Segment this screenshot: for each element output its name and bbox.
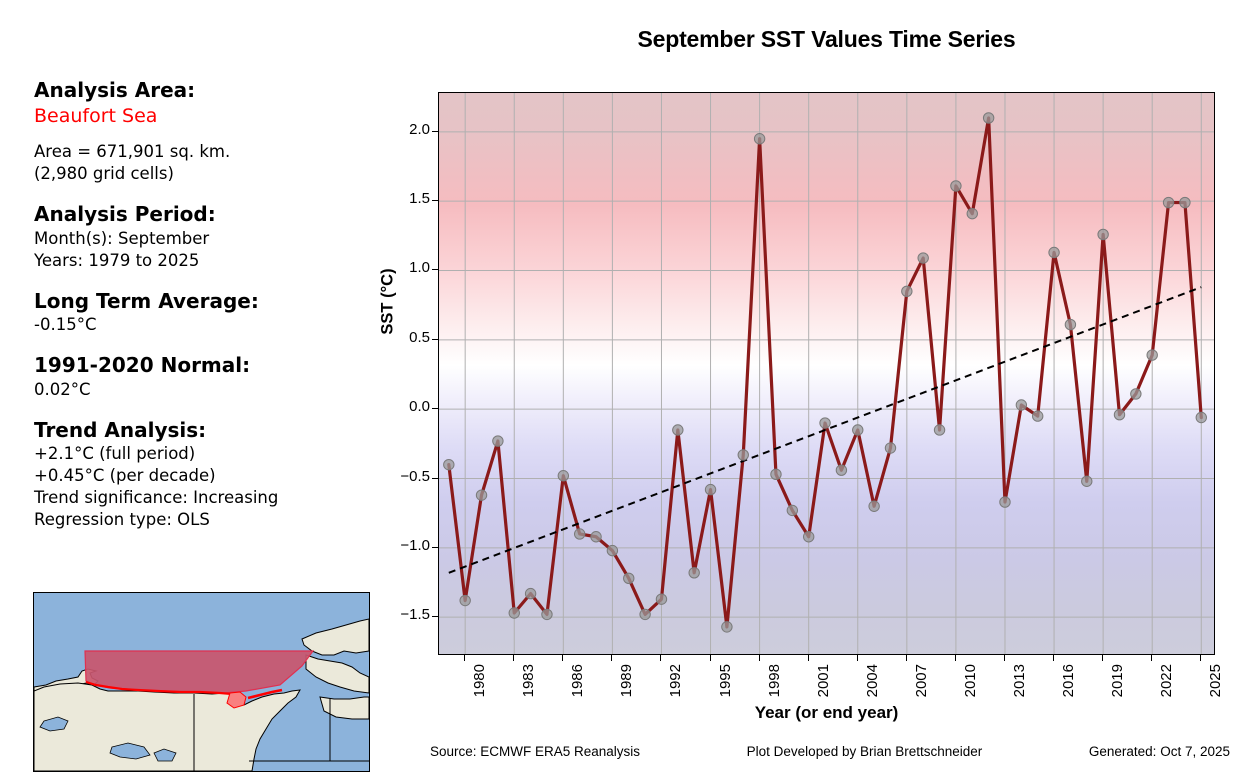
- data-point-marker: [1049, 247, 1059, 257]
- x-axis-tick-label: 1986: [569, 664, 586, 697]
- data-point-marker: [558, 471, 568, 481]
- x-axis-tick-mark: [710, 655, 711, 661]
- footer-bar: Source: ECMWF ERA5 Reanalysis Plot Devel…: [430, 744, 1230, 759]
- data-point-marker: [853, 425, 863, 435]
- x-axis-tick-label: 2025: [1207, 664, 1224, 697]
- data-point-marker: [902, 286, 912, 296]
- y-axis-tick-mark: [432, 478, 438, 479]
- data-point-marker: [1196, 412, 1206, 422]
- x-axis-tick-mark: [808, 655, 809, 661]
- analysis-area-heading: Analysis Area:: [34, 78, 374, 104]
- data-point-marker: [967, 208, 977, 218]
- x-axis-tick-mark: [759, 655, 760, 661]
- x-axis-tick-mark: [1053, 655, 1054, 661]
- data-point-marker: [656, 594, 666, 604]
- data-point-marker: [1180, 197, 1190, 207]
- data-point-marker: [934, 425, 944, 435]
- data-point-marker: [738, 450, 748, 460]
- data-point-marker: [1131, 389, 1141, 399]
- data-point-marker: [493, 436, 503, 446]
- y-axis-tick-mark: [432, 408, 438, 409]
- x-axis-tick-mark: [513, 655, 514, 661]
- data-point-marker: [1000, 497, 1010, 507]
- series-line-september-sst: [449, 118, 1201, 627]
- x-axis-tick-mark: [1004, 655, 1005, 661]
- y-axis-tick-mark: [432, 616, 438, 617]
- footer-generated: Generated: Oct 7, 2025: [1089, 744, 1230, 759]
- chart-plot-area: [438, 92, 1215, 655]
- x-axis-tick-label: 1998: [766, 664, 783, 697]
- trend-line-ols: [449, 287, 1201, 573]
- footer-source: Source: ECMWF ERA5 Reanalysis: [430, 744, 640, 759]
- y-axis-tick-label: −1.0: [400, 537, 430, 554]
- y-axis-tick-label: 0.0: [409, 398, 430, 415]
- data-point-marker: [574, 529, 584, 539]
- y-axis-tick-mark: [432, 339, 438, 340]
- x-axis-tick-label: 2016: [1060, 664, 1077, 697]
- x-axis-tick-label: 2004: [864, 664, 881, 697]
- x-axis-tick-mark: [1151, 655, 1152, 661]
- analysis-sidebar: Analysis Area: Beaufort Sea Area = 671,9…: [34, 78, 374, 531]
- y-axis-tick-label: 0.5: [409, 329, 430, 346]
- normal-value: 0.02°C: [34, 379, 374, 401]
- data-point-marker: [836, 465, 846, 475]
- y-axis-tick-mark: [432, 547, 438, 548]
- data-point-marker: [624, 573, 634, 583]
- data-point-marker: [787, 505, 797, 515]
- trend-per-decade: +0.45°C (per decade): [34, 465, 374, 487]
- data-point-marker: [444, 459, 454, 469]
- data-point-marker: [722, 622, 732, 632]
- data-point-marker: [885, 443, 895, 453]
- years-line: Years: 1979 to 2025: [34, 250, 374, 272]
- x-axis-tick-mark: [857, 655, 858, 661]
- data-point-marker: [771, 469, 781, 479]
- x-axis-tick-label: 2022: [1158, 664, 1175, 697]
- inset-map-svg: [34, 593, 369, 771]
- x-axis-tick-label: 1980: [471, 664, 488, 697]
- data-point-marker: [705, 484, 715, 494]
- data-point-marker: [591, 532, 601, 542]
- x-axis-tick-label: 2010: [962, 664, 979, 697]
- data-point-marker: [542, 609, 552, 619]
- x-axis-label: Year (or end year): [438, 703, 1215, 723]
- data-point-marker: [1016, 400, 1026, 410]
- analysis-region-bay-blob: [227, 692, 246, 708]
- data-point-marker: [754, 134, 764, 144]
- footer-credit: Plot Developed by Brian Brettschneider: [747, 744, 983, 759]
- page-title: September SST Values Time Series: [438, 26, 1215, 53]
- data-point-marker: [689, 568, 699, 578]
- data-point-marker: [640, 609, 650, 619]
- x-axis-tick-label: 1992: [667, 664, 684, 697]
- data-point-marker: [1114, 410, 1124, 420]
- y-axis-tick-label: 1.5: [409, 190, 430, 207]
- area-line: Area = 671,901 sq. km.: [34, 141, 374, 163]
- data-point-marker: [1082, 476, 1092, 486]
- y-axis-tick-mark: [432, 269, 438, 270]
- data-point-marker: [1098, 229, 1108, 239]
- x-axis-tick-label: 1995: [717, 664, 734, 697]
- data-point-marker: [525, 588, 535, 598]
- x-axis-tick-label: 2019: [1109, 664, 1126, 697]
- y-axis-tick-label: −0.5: [400, 468, 430, 485]
- y-axis-label: SST (°C): [379, 268, 398, 334]
- y-axis-tick-mark: [432, 131, 438, 132]
- months-line: Month(s): September: [34, 228, 374, 250]
- x-axis-tick-mark: [562, 655, 563, 661]
- normal-heading: 1991-2020 Normal:: [34, 353, 374, 379]
- long-term-average-value: -0.15°C: [34, 314, 374, 336]
- data-point-marker: [1065, 319, 1075, 329]
- x-axis-tick-mark: [464, 655, 465, 661]
- data-point-marker: [951, 181, 961, 191]
- data-point-marker: [869, 501, 879, 511]
- x-axis-tick-label: 2013: [1011, 664, 1028, 697]
- data-point-marker: [983, 113, 993, 123]
- y-axis-tick-label: 2.0: [409, 121, 430, 138]
- x-axis-tick-mark: [1200, 655, 1201, 661]
- trend-significance: Trend significance: Increasing: [34, 487, 374, 509]
- y-axis-tick-mark: [432, 200, 438, 201]
- trend-full-period: +2.1°C (full period): [34, 443, 374, 465]
- y-axis-tick-label: 1.0: [409, 259, 430, 276]
- region-inset-map: [33, 592, 370, 772]
- grid-cells-line: (2,980 grid cells): [34, 163, 374, 185]
- data-point-marker: [918, 253, 928, 263]
- regression-type: Regression type: OLS: [34, 509, 374, 531]
- data-point-marker: [1147, 350, 1157, 360]
- x-axis-tick-mark: [1102, 655, 1103, 661]
- data-point-marker: [803, 532, 813, 542]
- x-axis-tick-mark: [955, 655, 956, 661]
- x-axis-tick-label: 1983: [520, 664, 537, 697]
- data-point-marker: [460, 595, 470, 605]
- x-axis-tick-label: 2007: [913, 664, 930, 697]
- x-axis-tick-label: 1989: [618, 664, 635, 697]
- long-term-average-heading: Long Term Average:: [34, 289, 374, 315]
- region-name: Beaufort Sea: [34, 104, 374, 129]
- y-axis-tick-labels: −1.5−1.0−0.50.00.51.01.52.0: [378, 92, 430, 655]
- x-axis-tick-mark: [906, 655, 907, 661]
- data-point-marker: [1163, 197, 1173, 207]
- plot-series-layer: [439, 93, 1215, 655]
- data-point-marker: [820, 418, 830, 428]
- data-point-marker: [509, 608, 519, 618]
- y-axis-tick-label: −1.5: [400, 606, 430, 623]
- data-point-marker: [476, 490, 486, 500]
- data-point-marker: [1033, 411, 1043, 421]
- x-axis-tick-mark: [611, 655, 612, 661]
- trend-analysis-heading: Trend Analysis:: [34, 418, 374, 444]
- x-axis-tick-mark: [660, 655, 661, 661]
- analysis-period-heading: Analysis Period:: [34, 202, 374, 228]
- data-point-marker: [673, 425, 683, 435]
- data-point-marker: [607, 545, 617, 555]
- x-axis-tick-label: 2001: [815, 664, 832, 697]
